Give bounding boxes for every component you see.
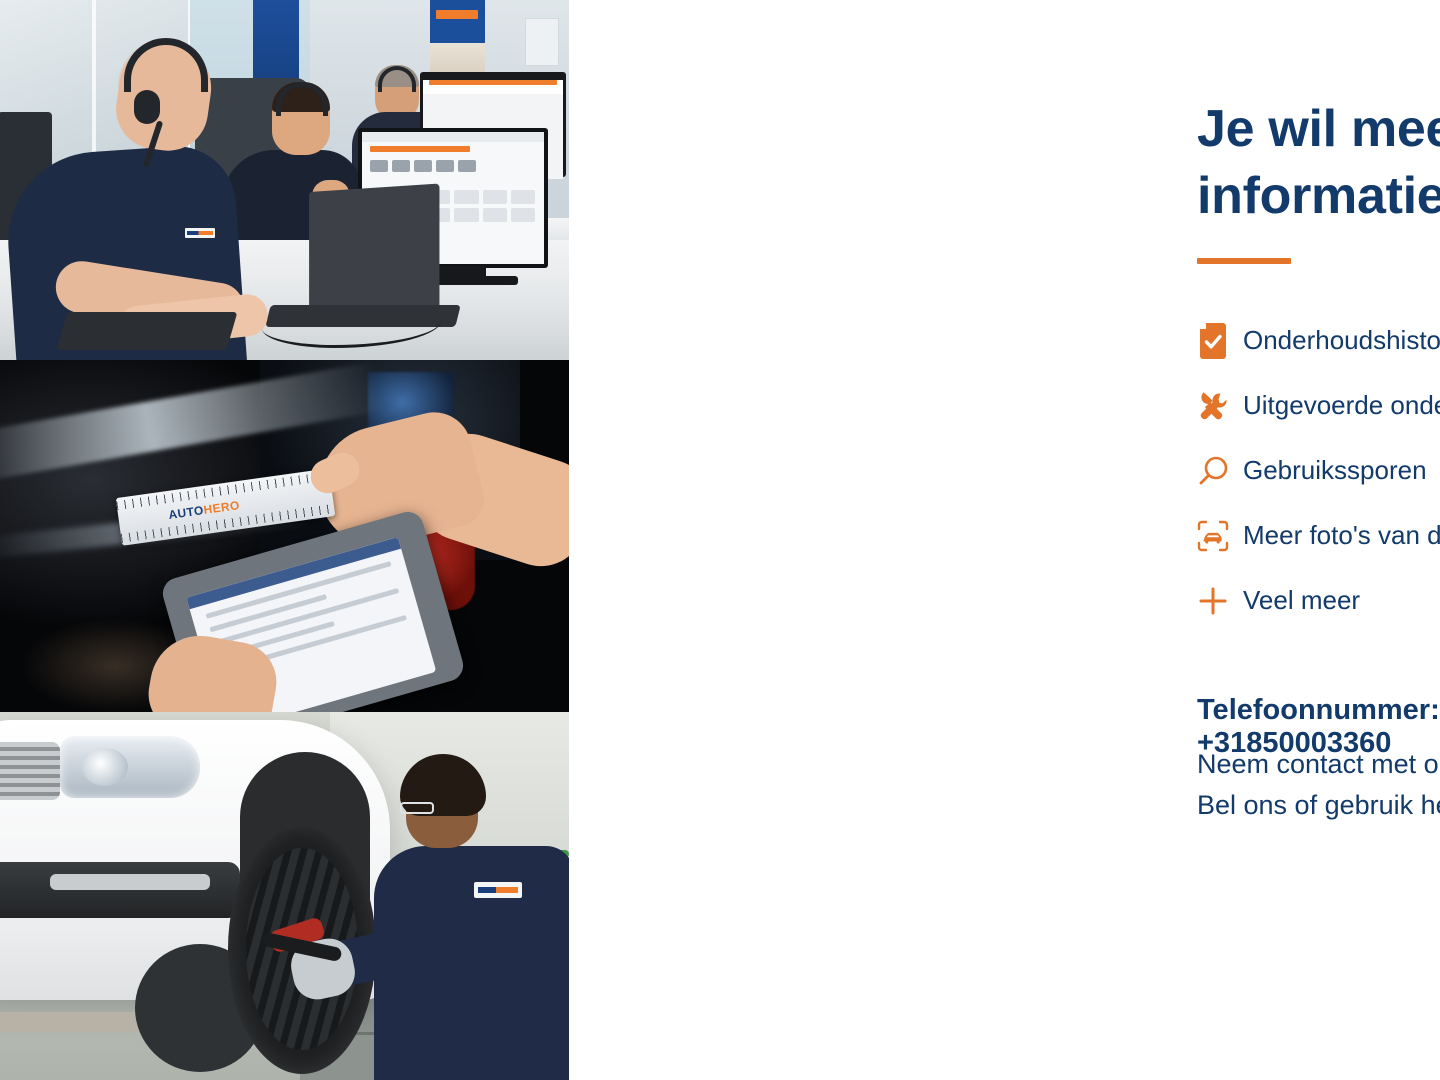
photo-call-center-agents-with-headsets	[0, 0, 569, 360]
wall-notice	[525, 18, 559, 66]
car-scan-icon	[1197, 520, 1243, 552]
list-item: Uitgevoerde onderhoudswerkzaamheden	[1197, 373, 1440, 438]
marketing-banner: AUTOHERO	[0, 0, 1440, 1080]
content-panel: Je wil meer informatie over: We geven je…	[569, 0, 1440, 1080]
mechanic	[378, 754, 569, 1080]
page-title: Je wil meer informatie over:	[1197, 96, 1440, 229]
title-divider	[1197, 258, 1291, 264]
contact-paragraph-line-1: Neem contact met ons op voor meer inform…	[1197, 749, 1440, 779]
wall-poster	[430, 0, 485, 78]
fog-light-trim	[50, 874, 210, 890]
feature-list: Onderhoudshistorie	[1197, 308, 1440, 633]
photo-column: AUTOHERO	[0, 0, 569, 1080]
mechanic-glasses	[400, 802, 434, 814]
contact-paragraph-line-2: Bel ons of gebruik het contactformulier.	[1197, 790, 1440, 820]
agent-1-headset-earcup	[134, 90, 160, 124]
magnifier-icon	[1197, 455, 1243, 487]
list-item-label: Meer foto's van de auto	[1243, 520, 1440, 551]
desk-tablet	[57, 312, 238, 350]
car-headlight	[60, 736, 200, 798]
plus-icon	[1197, 585, 1243, 617]
photo-mechanic-removing-wheel-white-car	[0, 712, 569, 1080]
car-bumper	[0, 862, 240, 918]
polo-logo-autohero	[474, 882, 522, 898]
contact-paragraph: Neem contact met ons op voor meer inform…	[1197, 744, 1440, 826]
list-item: Onderhoudshistorie	[1197, 308, 1440, 373]
page-title-line-2: informatie over:	[1197, 167, 1440, 225]
car-grille	[0, 742, 60, 800]
list-item: Veel meer	[1197, 568, 1440, 633]
list-item: Meer foto's van de auto	[1197, 503, 1440, 568]
photo-car-inspection-with-ruler-and-tablet: AUTOHERO	[0, 360, 569, 712]
polo-logo-autohero	[185, 228, 215, 238]
document-check-icon	[1197, 323, 1243, 359]
list-item-label: Gebruikssporen	[1243, 455, 1427, 486]
page-title-line-1: Je wil meer	[1197, 100, 1440, 158]
list-item-label: Uitgevoerde onderhoudswerkzaamheden	[1243, 390, 1440, 421]
list-item-label: Veel meer	[1243, 585, 1360, 616]
list-item: Gebruikssporen	[1197, 438, 1440, 503]
wrench-screwdriver-icon	[1197, 389, 1243, 423]
list-item-label: Onderhoudshistorie	[1243, 325, 1440, 356]
